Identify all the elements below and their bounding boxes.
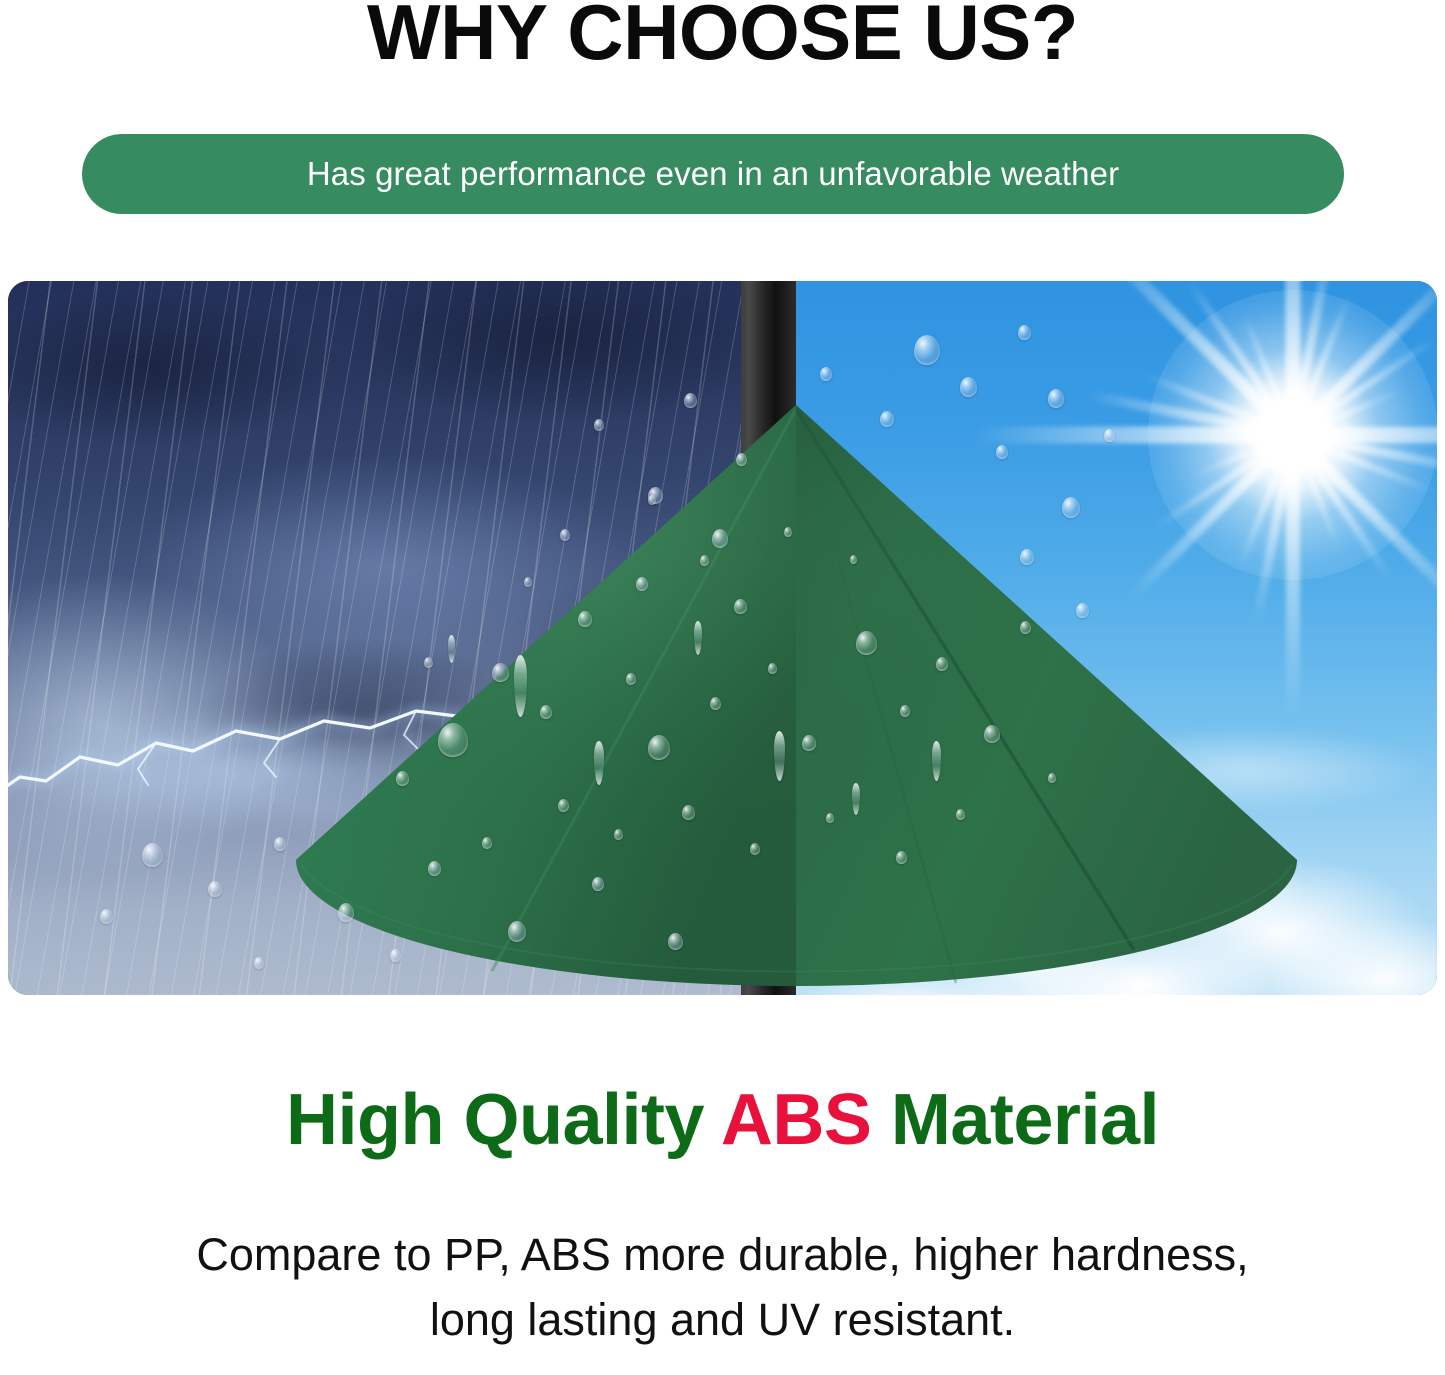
green-cone-baffle <box>296 405 1297 995</box>
description-text: Compare to PP, ABS more durable, higher … <box>0 1222 1445 1353</box>
description-line-1: Compare to PP, ABS more durable, higher … <box>0 1222 1445 1287</box>
headline-emphasis: ABS <box>721 1080 872 1160</box>
product-photo <box>8 281 1437 995</box>
tagline-text: Has great performance even in an unfavor… <box>307 155 1119 193</box>
headline: High Quality ABS Material <box>0 1079 1445 1161</box>
page-title: WHY CHOOSE US? <box>0 0 1445 74</box>
headline-part-2: Material <box>871 1080 1159 1160</box>
headline-part-1: High Quality <box>286 1080 721 1160</box>
product-cone-group <box>8 281 1437 995</box>
description-line-2: long lasting and UV resistant. <box>0 1287 1445 1352</box>
tagline-banner: Has great performance even in an unfavor… <box>82 134 1344 214</box>
